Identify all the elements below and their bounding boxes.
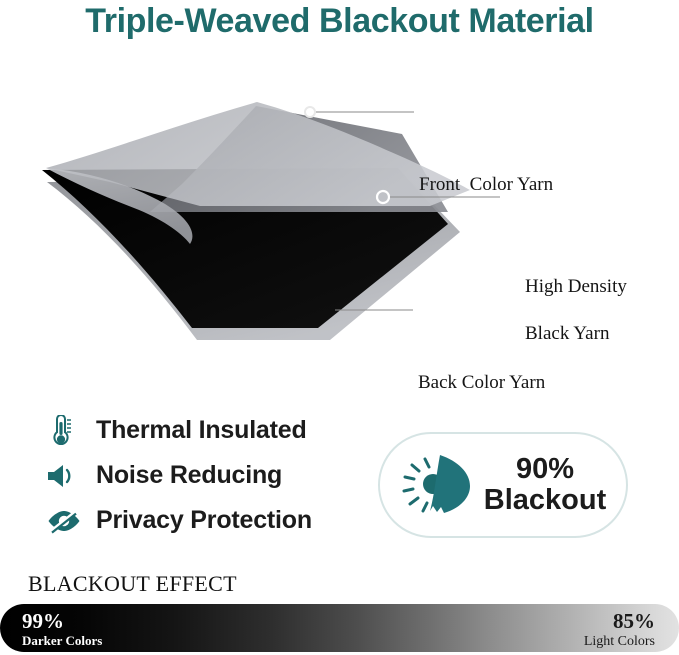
feature-label-thermal-insulated: Thermal Insulated [96,416,307,445]
sun-blocked-by-shade-icon [400,449,476,521]
feature-thermal-insulated: Thermal Insulated [46,408,376,453]
bar-left-group: 99% Darker Colors [22,609,102,649]
page-title: Triple-Weaved Blackout Material [0,2,679,41]
badge-label: Blackout [484,485,606,516]
label-hd-line1: High Density [525,276,627,297]
bar-right-label: Light Colors [584,634,655,650]
leader-front-color-yarn [305,107,414,117]
blackout-effect-gradient-bar: 99% Darker Colors 85% Light Colors [0,604,679,652]
label-high-density-black-yarn: High Density Black Yarn [506,251,627,370]
label-hd-line2: Black Yarn [525,323,609,344]
badge-text: 90% Blackout [484,454,606,515]
badge-percent: 90% [484,454,606,485]
fabric-layers-diagram: Front Color Yarn High Density Black Yarn… [0,72,679,352]
label-back-color-yarn: Back Color Yarn [418,371,545,395]
bar-left-percent: 99% [22,609,102,634]
feature-privacy-protection: Privacy Protection [46,498,376,543]
thermometer-icon [46,412,90,450]
label-front-color-yarn: Front Color Yarn [419,173,553,197]
bar-right-group: 85% Light Colors [584,609,655,650]
blackout-badge: 90% Blackout [378,432,628,538]
feature-noise-reducing: Noise Reducing [46,453,376,498]
blackout-effect-heading: BLACKOUT EFFECT [28,571,237,597]
feature-label-noise-reducing: Noise Reducing [96,461,282,490]
bar-right-percent: 85% [584,609,655,634]
bar-left-label: Darker Colors [22,634,102,649]
eye-slash-icon [46,502,90,540]
feature-list: Thermal Insulated Noise Reducing Privacy… [46,408,376,543]
speaker-sound-icon [46,457,90,495]
feature-label-privacy-protection: Privacy Protection [96,506,312,535]
